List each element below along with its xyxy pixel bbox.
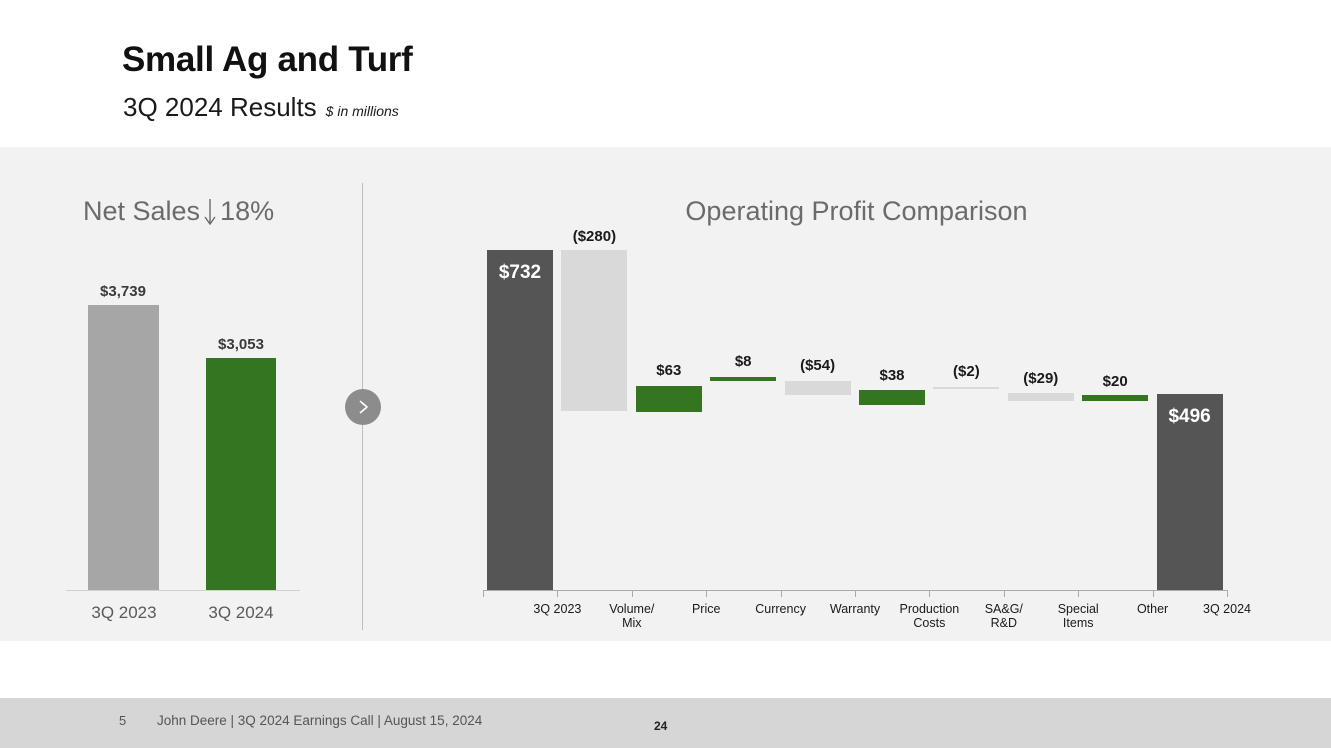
waterfall-column: $732	[483, 250, 557, 590]
net-sales-axis-line	[66, 590, 300, 591]
waterfall-axis-tick	[706, 590, 707, 597]
operating-profit-chart: $732($280)$63$8($54)$38($2)($29)$20$496 …	[483, 250, 1227, 640]
waterfall-column: $8	[706, 250, 780, 590]
footer-text: John Deere | 3Q 2024 Earnings Call | Aug…	[157, 713, 482, 728]
waterfall-bar	[636, 386, 702, 412]
waterfall-axis-tick	[1078, 590, 1079, 597]
waterfall-bar	[859, 390, 925, 405]
footer-page-number: 5	[119, 713, 126, 728]
waterfall-bar	[710, 377, 776, 381]
subtitle-row: 3Q 2024 Results $ in millions	[123, 92, 399, 123]
net-sales-value-2023: $3,739	[78, 283, 168, 300]
waterfall-column: ($2)	[929, 250, 1003, 590]
waterfall-value-label: $496	[1140, 406, 1240, 428]
waterfall-bar	[487, 250, 553, 590]
page-title: Small Ag and Turf	[122, 40, 412, 80]
waterfall-column: ($29)	[1004, 250, 1078, 590]
waterfall-column: $38	[855, 250, 929, 590]
waterfall-axis-tick	[781, 590, 782, 597]
waterfall-axis-tick	[557, 590, 558, 597]
waterfall-bar	[1008, 393, 1074, 401]
waterfall-value-label: $20	[1065, 373, 1165, 390]
waterfall-value-label: $732	[470, 262, 570, 284]
operating-profit-title-label: Operating Profit Comparison	[685, 196, 1027, 226]
net-sales-category-2024: 3Q 2024	[191, 603, 291, 623]
waterfall-category-label: 3Q 2024	[1177, 602, 1277, 616]
waterfall-axis-tick	[483, 590, 484, 597]
operating-profit-title: Operating Profit Comparison	[0, 196, 1331, 227]
waterfall-column: ($54)	[781, 250, 855, 590]
waterfall-value-label: ($280)	[544, 228, 644, 245]
net-sales-chart: $3,739 $3,053 3Q 2023 3Q 2024	[66, 250, 306, 595]
waterfall-axis-tick	[1004, 590, 1005, 597]
waterfall-axis-tick	[1227, 590, 1228, 597]
footer-slide-number: 24	[654, 719, 667, 733]
net-sales-category-2023: 3Q 2023	[74, 603, 174, 623]
waterfall-bar	[785, 381, 851, 395]
units-note: $ in millions	[326, 103, 399, 119]
net-sales-bar-2023	[88, 305, 159, 590]
waterfall-bar	[561, 250, 627, 411]
waterfall-bar	[1082, 395, 1148, 401]
chevron-right-icon[interactable]	[345, 389, 381, 425]
waterfall-column: ($280)	[557, 250, 631, 590]
waterfall-axis-tick	[632, 590, 633, 597]
waterfall-column: $63	[632, 250, 706, 590]
net-sales-bar-2024	[206, 358, 276, 590]
slide-header: Small Ag and Turf 3Q 2024 Results $ in m…	[0, 0, 1331, 147]
net-sales-value-2024: $3,053	[196, 336, 286, 353]
page-subtitle: 3Q 2024 Results	[123, 92, 317, 123]
waterfall-bar	[933, 387, 999, 389]
waterfall-column: $496	[1153, 250, 1227, 590]
waterfall-axis-tick	[929, 590, 930, 597]
waterfall-axis-tick	[855, 590, 856, 597]
waterfall-axis-tick	[1153, 590, 1154, 597]
